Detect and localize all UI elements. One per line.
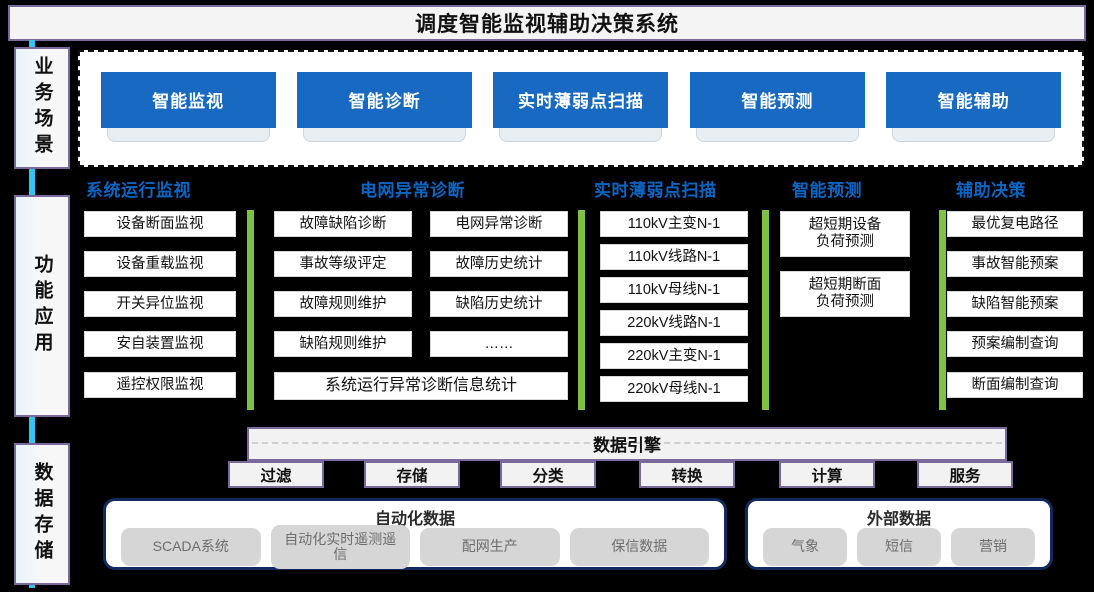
sidebar-item-functional-application[interactable]: 功能应用 [14, 195, 70, 417]
engine-chip-storage[interactable]: 存储 [364, 461, 460, 488]
data-source-chip-telemetry[interactable]: 自动化实时遥测遥信 [271, 525, 411, 569]
column-header-intelligent-prediction: 智能预测 [792, 176, 862, 201]
func-item[interactable]: 220kV线路N-1 [600, 310, 748, 336]
page-title: 调度智能监视辅助决策系统 [415, 8, 679, 38]
column-header-assistive-decision: 辅助决策 [956, 176, 1026, 201]
business-scenario-panel: 智能监视 智能诊断 实时薄弱点扫描 智能预测 智能辅助 [78, 50, 1084, 167]
external-data-chip-row: 气象 短信 营销 [748, 525, 1050, 569]
business-scenario-button-row: 智能监视 智能诊断 实时薄弱点扫描 智能预测 智能辅助 [80, 52, 1082, 165]
data-source-chip-distribution[interactable]: 配网生产 [420, 528, 560, 566]
func-item[interactable]: 断面编制查询 [947, 372, 1083, 398]
engine-chip-filter[interactable]: 过滤 [228, 461, 324, 488]
func-item[interactable]: 110kV线路N-1 [600, 244, 748, 270]
automation-data-chip-row: SCADA系统 自动化实时遥测遥信 配网生产 保信数据 [106, 525, 724, 569]
data-source-chip-protection[interactable]: 保信数据 [570, 528, 710, 566]
scenario-button-intelligent-assist[interactable]: 智能辅助 [886, 72, 1061, 128]
column-header-grid-anomaly-diagnosis: 电网异常诊断 [360, 176, 465, 201]
func-item[interactable]: …… [430, 331, 568, 357]
func-item[interactable]: 设备断面监视 [84, 211, 236, 237]
func-item[interactable]: 缺陷历史统计 [430, 291, 568, 317]
scenario-button-weak-point-scan[interactable]: 实时薄弱点扫描 [493, 72, 668, 128]
functional-application-area: 系统运行监视 设备断面监视 设备重载监视 开关异位监视 安自装置监视 遥控权限监… [78, 176, 1088, 416]
scenario-card[interactable]: 实时薄弱点扫描 [493, 72, 668, 146]
func-item[interactable]: 安自装置监视 [84, 331, 236, 357]
func-item[interactable]: 故障缺陷诊断 [274, 211, 412, 237]
func-item[interactable]: 110kV母线N-1 [600, 277, 748, 303]
func-item[interactable]: 超短期设备 负荷预测 [780, 211, 910, 257]
data-source-chip-sms[interactable]: 短信 [857, 528, 941, 566]
func-item-label: 超短期设备 负荷预测 [809, 217, 882, 252]
scenario-button-intelligent-diagnosis[interactable]: 智能诊断 [297, 72, 472, 128]
func-item[interactable]: 220kV母线N-1 [600, 376, 748, 402]
func-item-wide[interactable]: 系统运行异常诊断信息统计 [274, 372, 568, 400]
func-item[interactable]: 缺陷规则维护 [274, 331, 412, 357]
func-item[interactable]: 设备重载监视 [84, 251, 236, 277]
engine-chip-transform[interactable]: 转换 [639, 461, 735, 488]
func-item[interactable]: 故障规则维护 [274, 291, 412, 317]
scenario-button-intelligent-prediction[interactable]: 智能预测 [690, 72, 865, 128]
scenario-card[interactable]: 智能监视 [101, 72, 276, 146]
func-item[interactable]: 220kV主变N-1 [600, 343, 748, 369]
column-divider-green-4 [939, 210, 946, 410]
func-item[interactable]: 缺陷智能预案 [947, 291, 1083, 317]
func-item[interactable]: 遥控权限监视 [84, 372, 236, 398]
func-item[interactable]: 最优复电路径 [947, 211, 1083, 237]
func-item-label: 超短期断面 负荷预测 [809, 277, 882, 312]
func-item[interactable]: 事故等级评定 [274, 251, 412, 277]
page-title-bar: 调度智能监视辅助决策系统 [8, 5, 1086, 41]
data-source-chip-weather[interactable]: 气象 [763, 528, 847, 566]
sidebar-label-business-scenario: 业务场景 [33, 56, 52, 160]
scenario-card[interactable]: 智能预测 [690, 72, 865, 146]
column-divider-green-1 [247, 210, 254, 410]
system-architecture-diagram: 调度智能监视辅助决策系统 业务场景 功能应用 数据存储 智能监视 智能诊断 实时… [0, 0, 1094, 592]
func-item[interactable]: 110kV主变N-1 [600, 211, 748, 237]
func-item[interactable]: 超短期断面 负荷预测 [780, 271, 910, 317]
column-header-system-monitoring: 系统运行监视 [86, 176, 191, 201]
func-item[interactable]: 开关异位监视 [84, 291, 236, 317]
automation-data-box: 自动化数据 SCADA系统 自动化实时遥测遥信 配网生产 保信数据 [103, 498, 727, 570]
data-source-chip-scada[interactable]: SCADA系统 [121, 528, 261, 566]
func-item[interactable]: 电网异常诊断 [430, 211, 568, 237]
engine-chip-compute[interactable]: 计算 [779, 461, 875, 488]
scenario-card[interactable]: 智能辅助 [886, 72, 1061, 146]
func-item[interactable]: 故障历史统计 [430, 251, 568, 277]
column-divider-green-3 [762, 210, 769, 410]
data-engine-title: 数据引擎 [247, 431, 1007, 456]
engine-chip-service[interactable]: 服务 [917, 461, 1013, 488]
column-divider-green-2 [578, 210, 585, 410]
column-header-realtime-weak-point-scan: 实时薄弱点扫描 [594, 176, 717, 201]
scenario-button-intelligent-monitoring[interactable]: 智能监视 [101, 72, 276, 128]
func-item[interactable]: 预案编制查询 [947, 331, 1083, 357]
sidebar-label-functional-application: 功能应用 [33, 254, 52, 358]
sidebar-item-data-storage[interactable]: 数据存储 [14, 443, 70, 585]
external-data-box: 外部数据 气象 短信 营销 [745, 498, 1053, 570]
sidebar-label-data-storage: 数据存储 [33, 462, 52, 566]
data-source-chip-marketing[interactable]: 营销 [951, 528, 1035, 566]
sidebar-item-business-scenario[interactable]: 业务场景 [14, 47, 70, 169]
engine-chip-classify[interactable]: 分类 [500, 461, 596, 488]
scenario-card[interactable]: 智能诊断 [297, 72, 472, 146]
func-item[interactable]: 事故智能预案 [947, 251, 1083, 277]
